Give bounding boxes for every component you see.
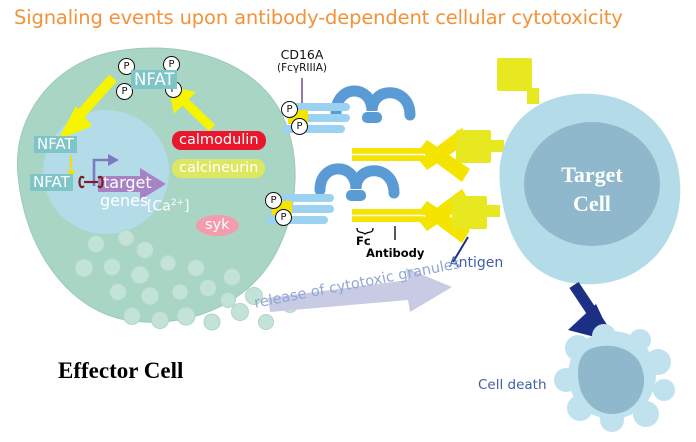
nfat-dna-bound-box: NFAT bbox=[30, 174, 73, 191]
target-cell-label: Target Cell bbox=[540, 160, 644, 218]
effector-nucleus bbox=[43, 110, 169, 234]
cd16a-alias: (FcγRIIIA) bbox=[266, 62, 338, 75]
calcineurin-label: calcineurin bbox=[172, 159, 265, 178]
antigen-top bbox=[497, 58, 539, 104]
calcium-text: [Ca bbox=[147, 199, 171, 215]
target-genes-line2: genes bbox=[100, 192, 148, 209]
target-cell-line2: Cell bbox=[540, 189, 644, 218]
antigen-bottom bbox=[452, 196, 500, 229]
receptor-phospho-4: P bbox=[275, 209, 292, 226]
cell-death-label: Cell death bbox=[478, 377, 547, 393]
nfat-phosphorylated-box: NFAT bbox=[131, 70, 177, 89]
receptor-phospho-3: P bbox=[265, 192, 282, 209]
effector-cell-label: Effector Cell bbox=[58, 358, 183, 384]
dead-cell bbox=[554, 324, 675, 432]
calcium-bracket: ] bbox=[184, 199, 189, 215]
calcium-label: [Ca2+] bbox=[147, 198, 190, 215]
page-title: Signaling events upon antibody-dependent… bbox=[14, 6, 623, 29]
target-cell-line1: Target bbox=[540, 160, 644, 189]
target-genes-line1: target bbox=[103, 174, 152, 191]
cd16a-label: CD16A (FcγRIIIA) bbox=[266, 48, 338, 75]
antigen-middle bbox=[456, 130, 504, 163]
syk-label: syk bbox=[196, 215, 239, 236]
diagram-canvas: Signaling events upon antibody-dependent… bbox=[0, 0, 696, 442]
receptor-phospho-2: P bbox=[291, 118, 308, 135]
antibody-label: Antibody bbox=[366, 246, 424, 260]
cd16a-name: CD16A bbox=[266, 48, 338, 62]
receptor-phospho-1: P bbox=[281, 101, 298, 118]
calcium-charge: 2+ bbox=[171, 198, 184, 208]
nfat-nuclear-box: NFAT bbox=[34, 136, 77, 153]
calmodulin-label: calmodulin bbox=[172, 131, 266, 150]
